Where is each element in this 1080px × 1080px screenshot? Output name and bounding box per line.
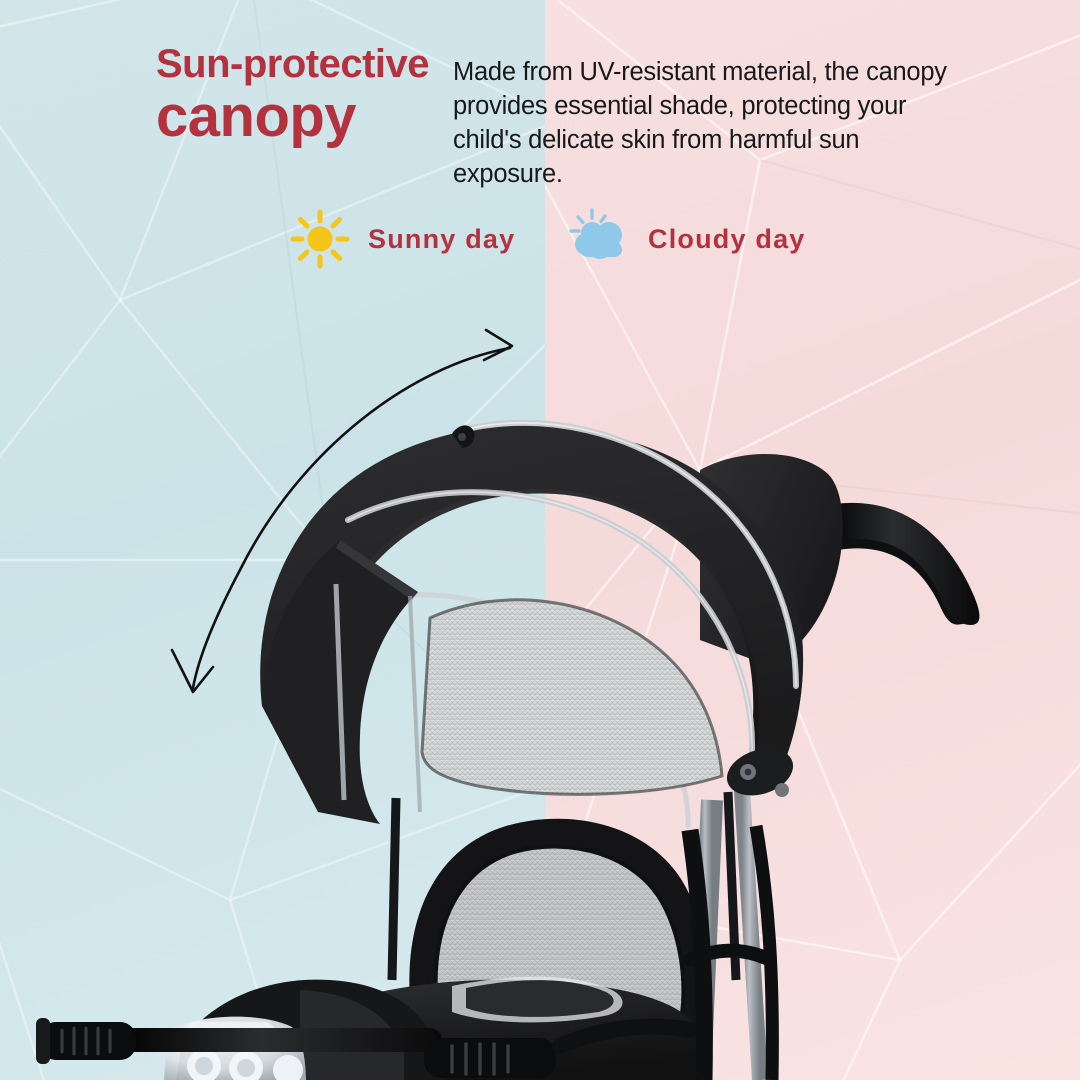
baby-tricycle-with-canopy bbox=[0, 0, 1080, 1080]
push-handle bbox=[822, 503, 979, 625]
poster-canvas: Sun-protective canopy Made from UV-resis… bbox=[0, 0, 1080, 1080]
